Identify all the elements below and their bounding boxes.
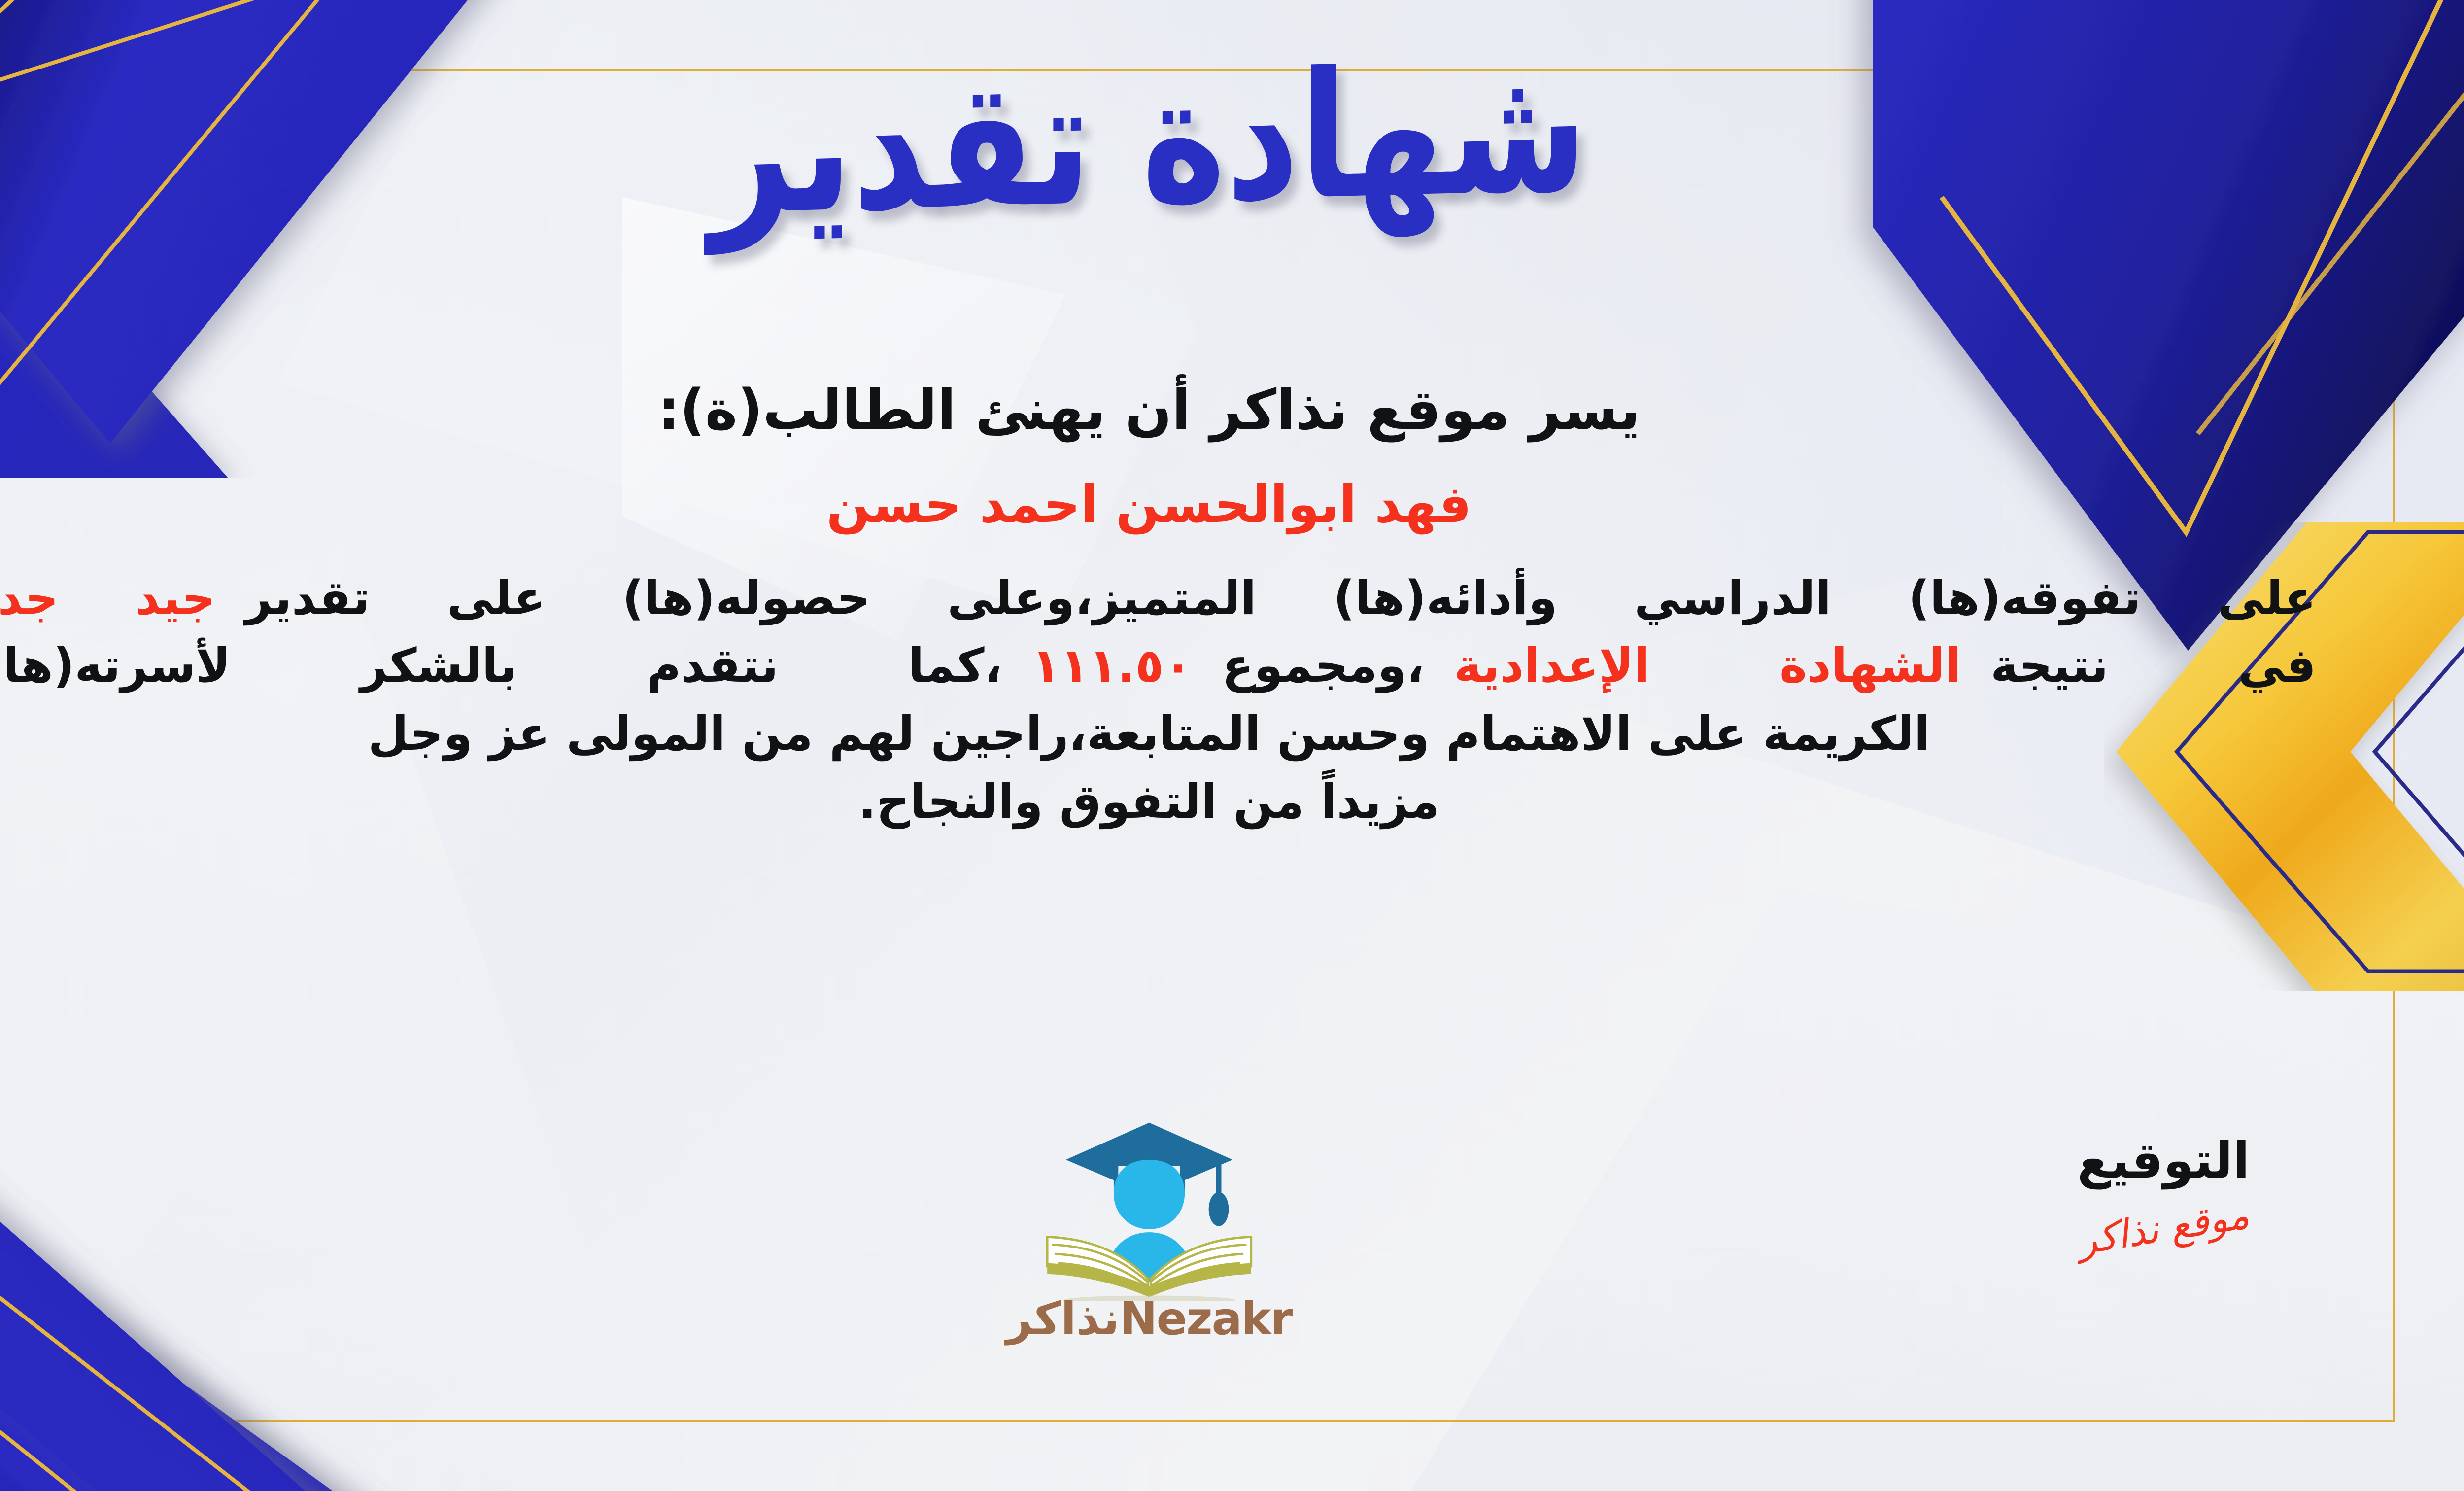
citation-line-4: مزيداً من التفوق والنجاح. (0, 768, 2316, 836)
brand-logo-text: Nezakrنذاكر (962, 1292, 1336, 1345)
citation-paragraph: على تفوقه(ها) الدراسي وأدائه(ها) المتميز… (0, 565, 2316, 836)
certificate-page: شهادة تقدير يسر موقع نذاكر أن يهنئ الطال… (0, 0, 2464, 1491)
greeting-text: يسر موقع نذاكر أن يهنئ الطالب(ة): (0, 375, 2316, 447)
total-label: ،ومجموع (1222, 639, 1425, 693)
total-score-value: ١١١.٥٠ (1032, 639, 1193, 693)
brand-logo: Nezakrنذاكر (962, 1114, 1336, 1345)
brand-logo-arabic: نذاكر (1006, 1292, 1120, 1345)
page-title: شهادة تقدير (710, 30, 1588, 253)
signature-block: التوقيع موقع نذاكر (1991, 1134, 2336, 1250)
citation-line-2: في نتيجةالشهادة الإعدادية،ومجموع١١١.٥٠،ك… (0, 632, 2316, 700)
citation-line-1-text: على تفوقه(ها) الدراسي وأدائه(ها) المتميز… (245, 571, 2316, 625)
citation-line-3: الكريمة على الاهتمام وحسن المتابعة،راجين… (0, 700, 2316, 768)
signature-label: التوقيع (1991, 1134, 2336, 1188)
citation-line-1: على تفوقه(ها) الدراسي وأدائه(ها) المتميز… (0, 565, 2316, 633)
certificate-footer: التوقيع موقع نذاكر (0, 1134, 2365, 1439)
certificate-title-area: شهادة تقدير (0, 59, 2464, 224)
graduate-book-logo-icon (1033, 1114, 1265, 1301)
brand-logo-latin: Nezakr (1120, 1292, 1292, 1345)
certificate-body: يسر موقع نذاكر أن يهنئ الطالب(ة): فهد اب… (0, 375, 2316, 836)
signature-mark: موقع نذاكر (2075, 1194, 2252, 1263)
citation-line-2-suffix: ،كما نتقدم بالشكر لأسرته(ها) (0, 639, 1002, 693)
exam-name: الشهادة الإعدادية (1454, 639, 1961, 693)
citation-line-2-prefix: في نتيجة (1990, 639, 2316, 693)
grade-value: جيد جداً (0, 571, 215, 625)
student-name: فهد ابوالحسن احمد حسن (0, 472, 2316, 536)
